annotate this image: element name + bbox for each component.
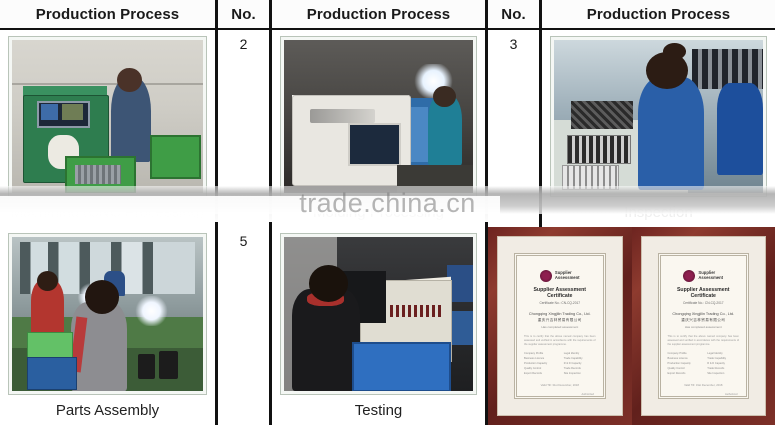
stamp-icon (582, 396, 596, 399)
logo-line-2: Assessment (555, 275, 580, 280)
certificate-company: Chongqing Xingjilin Trading Co., Ltd. (524, 312, 596, 316)
certificate-body: This is to certify that the above named … (524, 335, 596, 347)
cell-no-value-3: 3 (488, 30, 542, 227)
stamp-icon (725, 396, 739, 399)
certificate-status-line: Has completed assessment (668, 325, 740, 329)
logo-text: Supplier Assessment (698, 271, 723, 281)
caption-parts-assembly: Parts Assembly (8, 395, 207, 425)
logo-line-2: Assessment (698, 275, 723, 280)
inspection-bench-photo (554, 40, 763, 193)
certificate-1[interactable]: Supplier Assessment Supplier Assessment … (488, 227, 632, 425)
certificate-body: This is to certify that the above named … (668, 335, 740, 347)
certificate-frame: Supplier Assessment Supplier Assessment … (632, 227, 775, 425)
logo-text: Supplier Assessment (555, 271, 580, 281)
no-value: 3 (510, 36, 518, 52)
no-value: 5 (240, 233, 248, 249)
injection-molding-photo (284, 40, 473, 193)
cell-parts-assembly: Parts Assembly (0, 227, 218, 425)
item: Export Records (668, 372, 700, 377)
caption-machining: Machining (CNC Processing) (8, 197, 207, 227)
production-process-table: Production Process No. Production Proces… (0, 0, 775, 425)
cell-testing: Testing (272, 227, 488, 425)
certificate-mat: Supplier Assessment Supplier Assessment … (497, 236, 623, 416)
photo-frame (550, 36, 767, 197)
certificate-title: Supplier Assessment Certificate (524, 287, 596, 299)
signature-block: Approved Date of Issue: 2017 (524, 397, 547, 399)
certificate-paper: Supplier Assessment Supplier Assessment … (514, 253, 606, 399)
certificate-2[interactable]: Supplier Assessment Supplier Assessment … (632, 227, 775, 425)
cell-no-value-2: 2 (218, 30, 272, 227)
item: Site Inspection (564, 372, 596, 377)
supplier-assessment-logo: Supplier Assessment (524, 270, 596, 282)
signature-mark: Approved (668, 397, 691, 399)
certificate-paper: Supplier Assessment Supplier Assessment … (658, 253, 750, 399)
items-right: Legal Identity Trade Capability R & D Ca… (564, 352, 596, 377)
certificate-frame: Supplier Assessment Supplier Assessment … (488, 227, 632, 425)
caption-testing: Testing (280, 395, 477, 425)
caption-molding: Molding Processing (280, 197, 477, 227)
cell-molding: Molding Processing (272, 30, 488, 227)
certificate-company-cn: 重庆兴吉林贸易有限公司 (524, 318, 596, 323)
header-label: No. (501, 6, 525, 23)
testing-photo (284, 237, 473, 391)
stamp-block: Authorized (582, 393, 596, 399)
photo-frame (280, 233, 477, 395)
supplier-assessment-logo: Supplier Assessment (668, 270, 740, 282)
items-left: Company Profile Business Licence Product… (524, 352, 556, 377)
stamp-block: Authorized (725, 393, 739, 399)
certificate-company: Chongqing Xingjilin Trading Co., Ltd. (668, 312, 740, 316)
header-production-process-3: Production Process (542, 0, 775, 30)
items-right: Legal Identity Trade Capability R & D Ca… (707, 352, 739, 377)
certificate-signature-row: Approved Date of Issue: 2017 Authorized (668, 393, 740, 399)
certificate-validity: Valid Till: 31st December, 2018 (668, 383, 740, 387)
photo-frame (8, 233, 207, 395)
item: Site Inspection (707, 372, 739, 377)
no-value: 2 (240, 36, 248, 52)
cell-machining: Machining (CNC Processing) (0, 30, 218, 227)
cnc-machining-photo (12, 40, 203, 193)
certificate-number: Certificate No.: CN-CQ-2017 (668, 301, 740, 305)
signature-block: Approved Date of Issue: 2017 (668, 397, 691, 399)
table-grid: Production Process No. Production Proces… (0, 0, 775, 425)
parts-assembly-photo (12, 237, 203, 391)
cell-no-value-5: 5 (218, 227, 272, 425)
header-label: Production Process (587, 6, 731, 23)
certificate-mat: Supplier Assessment Supplier Assessment … (641, 236, 767, 416)
header-no-1: No. (218, 0, 272, 30)
seal-icon (540, 270, 552, 282)
cell-certificates: Supplier Assessment Supplier Assessment … (488, 227, 775, 425)
item: Export Records (524, 372, 556, 377)
header-no-2: No. (488, 0, 542, 30)
photo-frame (280, 36, 477, 197)
certificate-status-line: Has completed assessment (524, 325, 596, 329)
seal-icon (683, 270, 695, 282)
certificate-signature-row: Approved Date of Issue: 2017 Authorized (524, 393, 596, 399)
header-production-process-1: Production Process (0, 0, 218, 30)
header-label: Production Process (36, 6, 180, 23)
certificate-validity: Valid Till: 31st December, 2018 (524, 383, 596, 387)
header-label: No. (231, 6, 255, 23)
certificate-items: Company Profile Business Licence Product… (668, 352, 740, 377)
signature-mark: Approved (524, 397, 547, 399)
header-label: Production Process (307, 6, 451, 23)
certificate-number: Certificate No.: CN-CQ-2017 (524, 301, 596, 305)
header-production-process-2: Production Process (272, 0, 488, 30)
certificate-company-cn: 重庆兴吉林贸易有限公司 (668, 318, 740, 323)
certificate-items: Company Profile Business Licence Product… (524, 352, 596, 377)
caption-inspection: Inspection (550, 197, 767, 227)
photo-frame (8, 36, 207, 197)
certificate-title: Supplier Assessment Certificate (668, 287, 740, 299)
items-left: Company Profile Business Licence Product… (668, 352, 700, 377)
cell-inspection: Inspection (542, 30, 775, 227)
